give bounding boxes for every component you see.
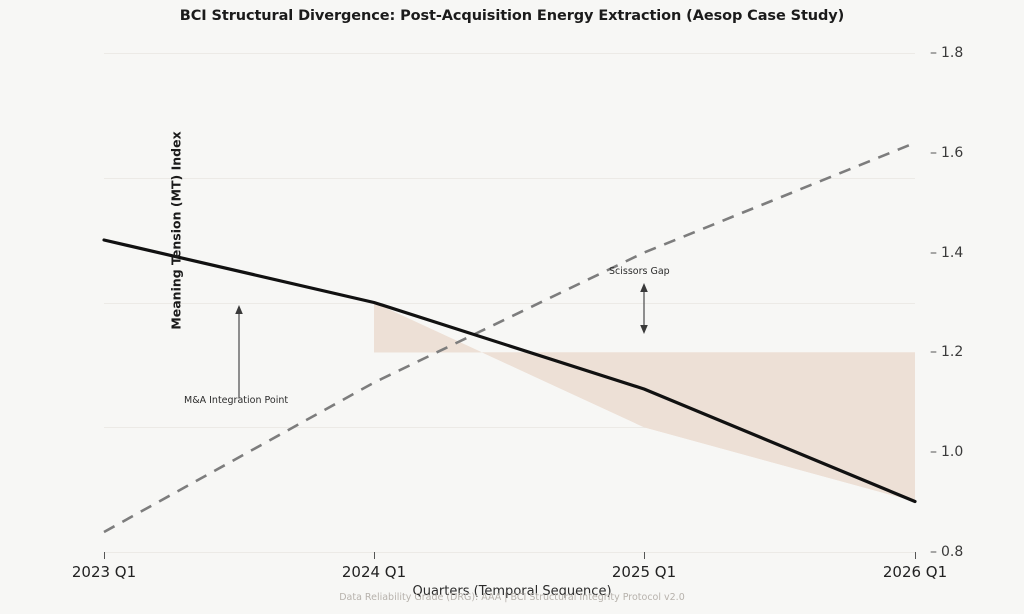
y-tick-right-1-8: –1.8 [930,45,963,61]
plot-area: 10– 9– 8– 7– 6– –1.8 –1.6 –1.4 –1.2 –1.0… [104,53,915,552]
y-tick-right-1-0: –1.0 [930,444,963,460]
x-tick-label-2025-q1: 2025 Q1 [612,563,676,581]
chart-footer-note: Data Reliability Grade (DRG): AAA | BCI … [0,592,1024,603]
y-axis-label-left: Meaning Tension (MT) Index [169,81,184,381]
y-tick-right-0-8: –0.8 [930,544,963,560]
chart-canvas: BCI Structural Divergence: Post-Acquisit… [0,0,1024,614]
gridline-6 [104,552,915,553]
x-tick-label-2024-q1: 2024 Q1 [342,563,406,581]
series-line-perceptual-legibility [104,143,915,532]
chart-title: BCI Structural Divergence: Post-Acquisit… [0,8,1024,24]
y-tick-right-1-4: –1.4 [930,245,963,261]
x-tick-label-2023-q1: 2023 Q1 [72,563,136,581]
x-tickmark-2024-q1 [374,552,375,559]
x-tickmark-2023-q1 [104,552,105,559]
y-tick-right-1-6: –1.6 [930,145,963,161]
annotation-label-ma-integration-point: M&A Integration Point [184,395,288,406]
scissors-gap-shading-block-a [374,303,644,428]
x-tickmark-2025-q1 [644,552,645,559]
series-layer [104,53,915,552]
x-tick-label-2026-q1: 2026 Q1 [883,563,947,581]
annotation-label-scissors-gap: Scissors Gap [609,266,670,277]
annotation-arrow-ma-integration [235,305,243,398]
y-tick-right-1-2: –1.2 [930,344,963,360]
x-tickmark-2026-q1 [915,552,916,559]
scissors-gap-shading-block-b [644,352,915,501]
annotation-arrow-scissors-gap [640,283,648,334]
